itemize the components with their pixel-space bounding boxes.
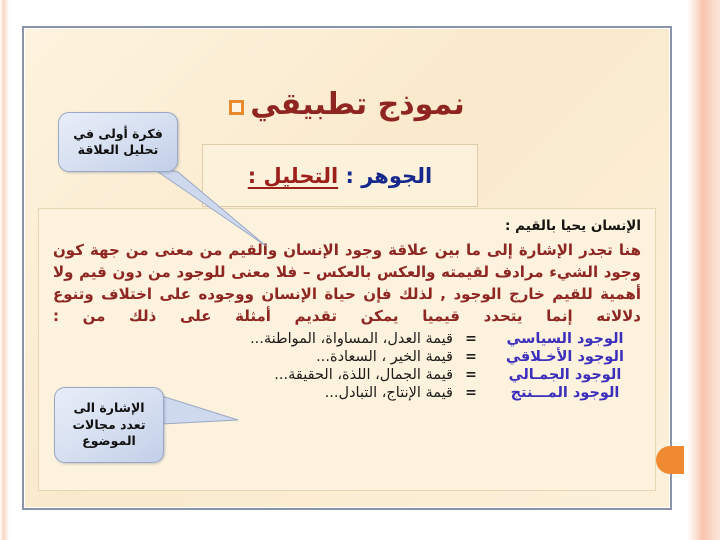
equals-sign: = (453, 331, 489, 347)
definition-term: الوجود المـــنتج (489, 385, 641, 401)
definition-term: الوجود السياسي (489, 331, 641, 347)
callout-bubble-scope-note: الإشارة الى تعدد مجالات الموضوع (54, 387, 164, 463)
subtitle-part-one: الجوهر (361, 164, 432, 188)
content-heading: الإنسان يحيا بالقيم : (53, 218, 641, 236)
callout-bubble-first-idea: فكرة أولى في تحليل العلاقة (58, 112, 178, 172)
equals-sign: = (453, 385, 489, 401)
subtitle-part-two: التحليل : (248, 164, 338, 188)
page-title-text: نموذج تطبيقي (250, 88, 465, 121)
content-paragraph: هنا تجدر الإشارة إلى ما بين علاقة وجود ا… (53, 239, 641, 328)
definition-term: الوجود الجمـالي (489, 367, 641, 383)
definition-value: قيمة الخير ، السعادة... (53, 349, 453, 365)
page-stripe-right (687, 0, 720, 540)
subtitle-separator: : (338, 164, 361, 188)
list-item: الوجود الأخـلاقي = قيمة الخير ، السعادة.… (53, 349, 641, 365)
definition-term: الوجود الأخـلاقي (489, 349, 641, 365)
callout-line: تعدد مجالات (72, 417, 145, 434)
definition-value: قيمة العدل، المساواة، المواطنة... (53, 331, 453, 347)
square-bullet-icon (229, 100, 244, 115)
equals-sign: = (453, 367, 489, 383)
callout-line: الموضوع (82, 433, 136, 450)
subtitle-box: الجوهر : التحليل : (202, 144, 478, 207)
equals-sign: = (453, 349, 489, 365)
callout-line: فكرة أولى في (73, 126, 163, 143)
page-stripe-left (0, 0, 9, 540)
list-item: الوجود الجمـالي = قيمة الجمال، اللذة، ال… (53, 367, 641, 383)
callout-line: الإشارة الى (73, 400, 144, 417)
orange-half-circle-decoration (656, 446, 684, 474)
list-item: الوجود السياسي = قيمة العدل، المساواة، ا… (53, 331, 641, 347)
callout-line: تحليل العلاقة (78, 142, 159, 159)
definition-value: قيمة الجمال، اللذة، الحقيقة... (53, 367, 453, 383)
